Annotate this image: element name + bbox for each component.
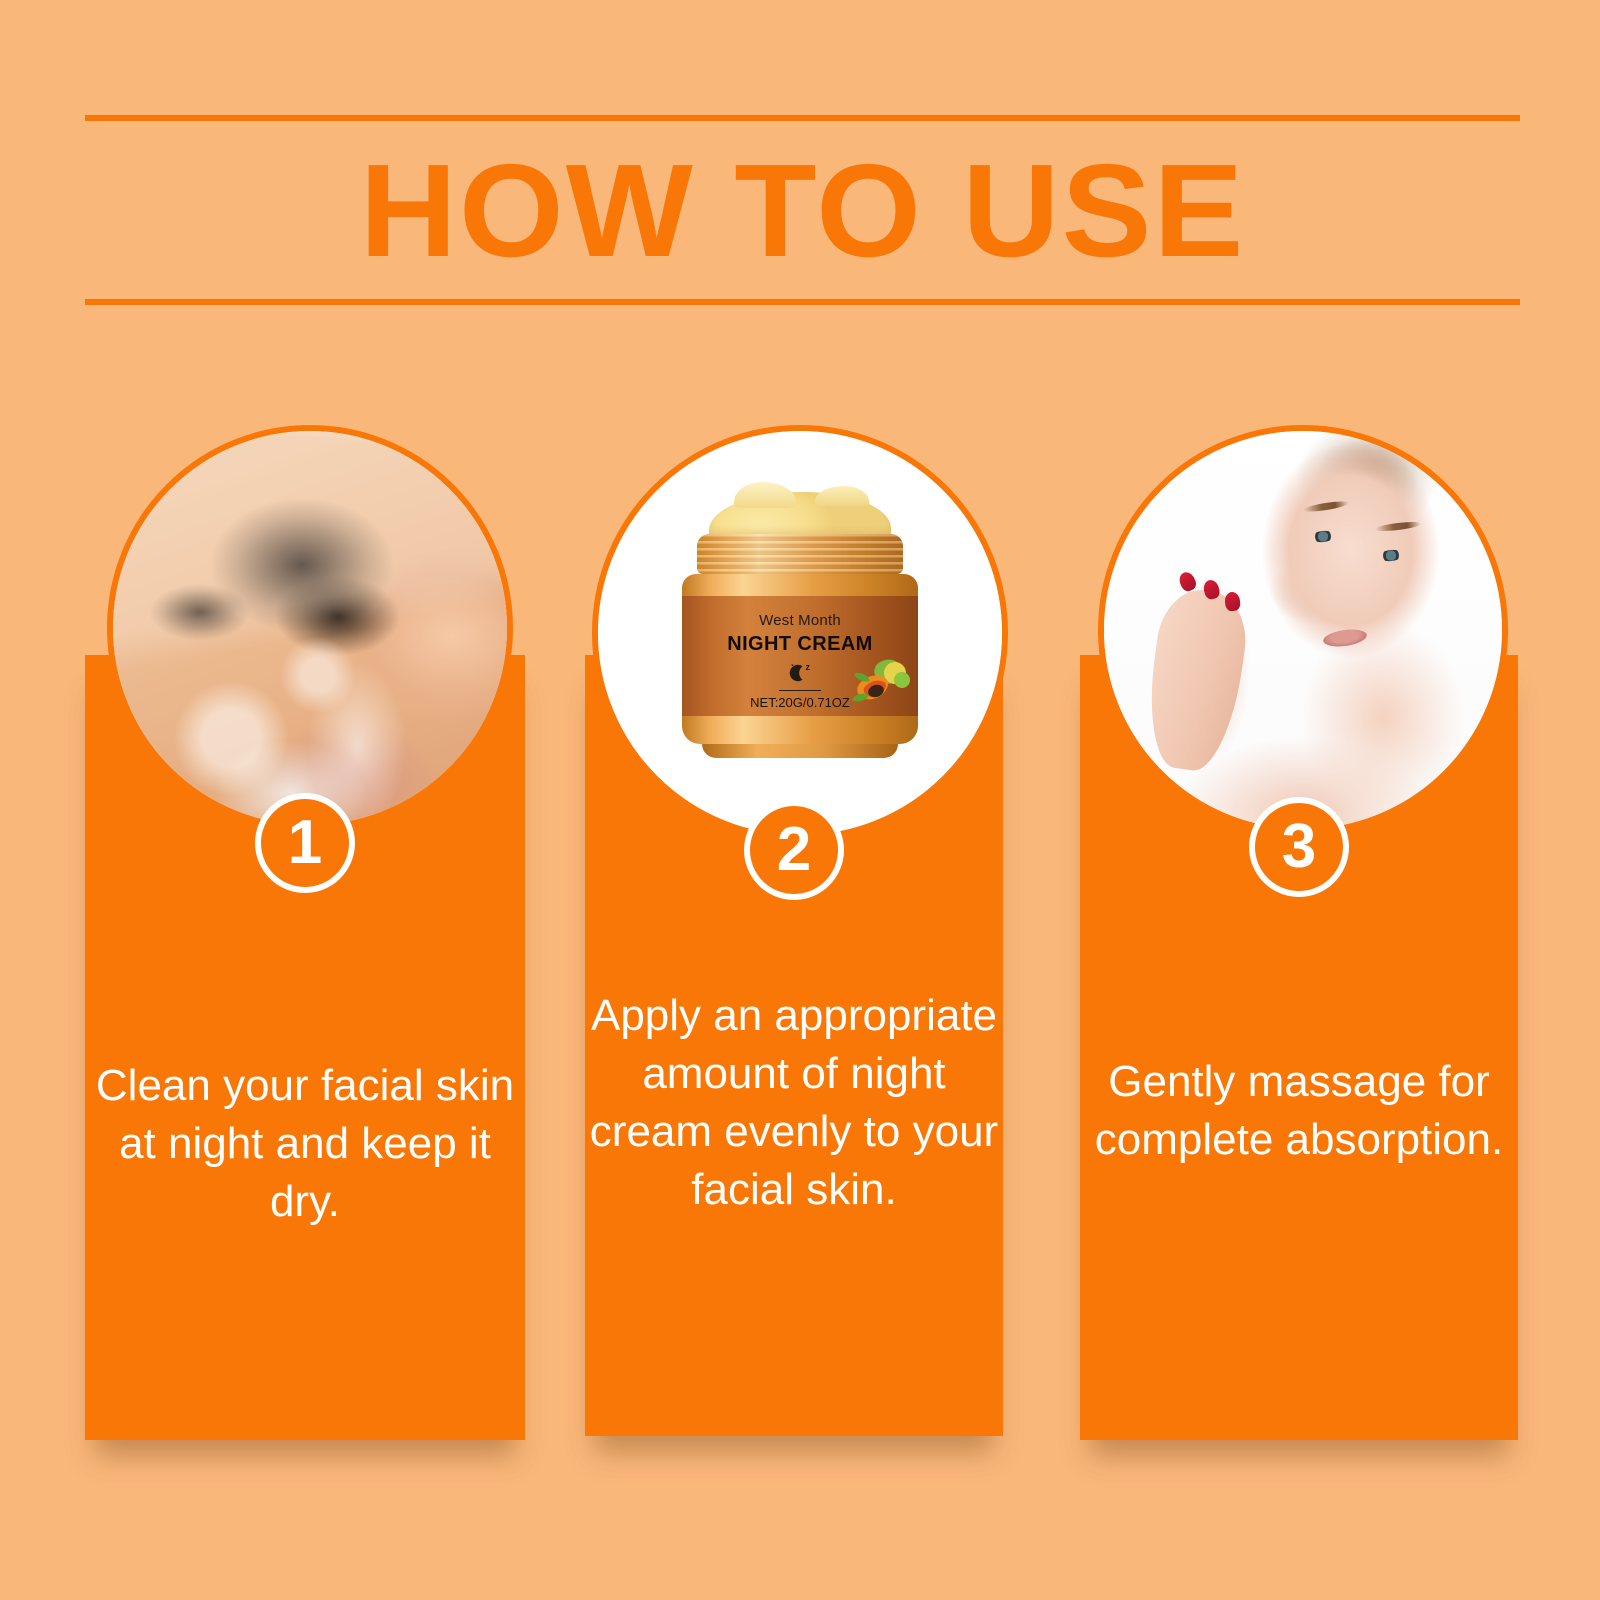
moon-sleep-icon: z bbox=[785, 661, 815, 683]
step-1-image-circle bbox=[107, 425, 513, 831]
product-name: NIGHT CREAM bbox=[682, 633, 918, 656]
model-brow-left bbox=[1303, 499, 1350, 513]
step-1-caption: Clean your facial skin at night and keep… bbox=[85, 1057, 525, 1231]
jar-label: West Month NIGHT CREAM z NET:20G/ bbox=[682, 596, 918, 716]
product-jar: West Month NIGHT CREAM z NET:20G/ bbox=[682, 492, 918, 758]
steps-container: 1 Clean your facial skin at night and ke… bbox=[0, 425, 1600, 1485]
model-nail-3 bbox=[1224, 591, 1241, 611]
model-hand bbox=[1140, 585, 1252, 775]
product-brand: West Month bbox=[682, 612, 918, 629]
model-eye-right bbox=[1378, 549, 1403, 562]
page-header: HOW TO USE bbox=[85, 115, 1520, 305]
night-cream-jar-photo: West Month NIGHT CREAM z NET:20G/ bbox=[598, 431, 1002, 835]
svg-text:z: z bbox=[806, 662, 811, 672]
model-eye-left bbox=[1310, 529, 1335, 542]
step-2-caption: Apply an appropriate amount of night cre… bbox=[585, 987, 1003, 1219]
step-3-number-badge: 3 bbox=[1249, 797, 1349, 897]
woman-washing-face-photo bbox=[113, 431, 507, 825]
jar-body: West Month NIGHT CREAM z NET:20G/ bbox=[682, 574, 918, 744]
papaya-icon bbox=[850, 656, 912, 712]
header-rule-bottom bbox=[85, 299, 1520, 305]
model-brow-right bbox=[1374, 520, 1421, 533]
woman-massaging-face-photo bbox=[1104, 431, 1502, 829]
label-divider bbox=[779, 690, 821, 692]
step-1-number-badge: 1 bbox=[255, 793, 355, 893]
cream-swirl bbox=[709, 492, 891, 538]
jar-neck-threads bbox=[697, 534, 903, 574]
step-3-image-circle bbox=[1098, 425, 1508, 835]
step-2-number-badge: 2 bbox=[744, 800, 844, 900]
jar-base bbox=[702, 742, 898, 758]
step-2-image-circle: West Month NIGHT CREAM z NET:20G/ bbox=[592, 425, 1008, 841]
step-3-caption: Gently massage for complete absorption. bbox=[1080, 1053, 1518, 1169]
model-lips bbox=[1322, 627, 1368, 649]
page-title: HOW TO USE bbox=[71, 121, 1535, 299]
